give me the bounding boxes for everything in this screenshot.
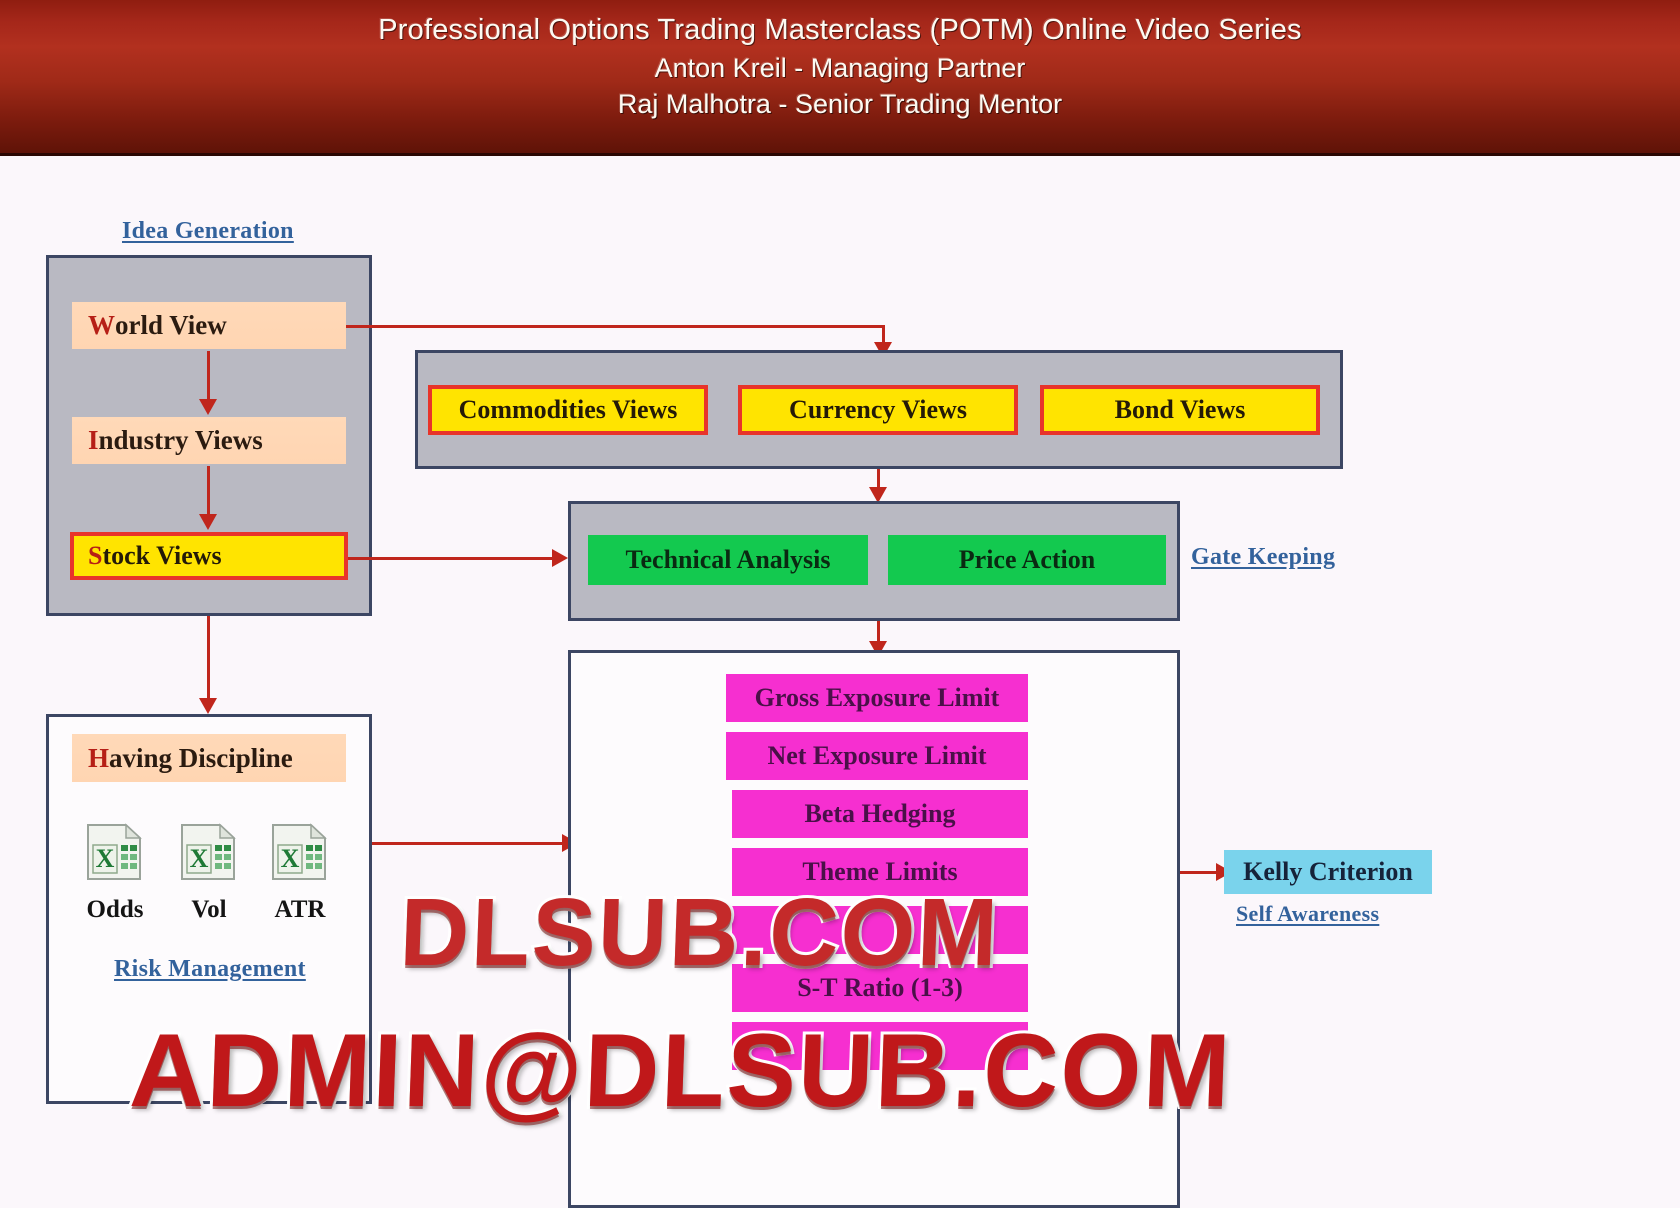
- beta-hedging-box[interactable]: Beta Hedging: [732, 790, 1028, 838]
- kelly-criterion-box[interactable]: Kelly Criterion: [1224, 850, 1432, 894]
- net-exposure-limit-label: Net Exposure Limit: [767, 741, 986, 771]
- connector-risk-to-limits: [372, 842, 562, 845]
- connector-analysis-to-limits: [877, 621, 880, 641]
- stock-views-initial: S: [88, 541, 102, 571]
- currency-views-label: Currency Views: [789, 395, 967, 425]
- bond-views-box[interactable]: Bond Views: [1040, 385, 1320, 435]
- price-action-box[interactable]: Price Action: [888, 535, 1166, 585]
- industry-views-box[interactable]: Industry Views: [72, 417, 346, 464]
- connector-worldview-to-views-v: [882, 325, 885, 342]
- connector-stock-to-analysis: [348, 557, 552, 560]
- label-self-awareness: Self Awareness: [1236, 901, 1379, 927]
- label-gate-keeping: Gate Keeping: [1191, 544, 1335, 571]
- presenter-secondary: Raj Malhotra - Senior Trading Mentor: [0, 86, 1680, 122]
- stock-views-label: tock Views: [102, 541, 221, 571]
- currency-views-box[interactable]: Currency Views: [738, 385, 1018, 435]
- industry-views-initial: I: [88, 425, 99, 456]
- watermark-email: ADMIN@DLSUB.COM: [128, 1012, 1234, 1131]
- label-idea-generation: Idea Generation: [122, 218, 294, 245]
- connector-views-to-analysis: [877, 469, 880, 487]
- connector-worldview-to-views-h: [346, 325, 884, 328]
- stock-views-box[interactable]: Stock Views: [70, 532, 348, 580]
- tool-atr-label: ATR: [263, 896, 337, 924]
- arrowhead-world-to-industry: [199, 399, 217, 415]
- bond-views-label: Bond Views: [1115, 395, 1246, 425]
- course-title: Professional Options Trading Masterclass…: [0, 10, 1680, 50]
- connector-idea-to-risk: [207, 616, 210, 698]
- svg-text:X: X: [96, 844, 115, 873]
- title-block: Professional Options Trading Masterclass…: [0, 10, 1680, 122]
- world-view-box[interactable]: World View: [72, 302, 346, 349]
- commodities-views-box[interactable]: Commodities Views: [428, 385, 708, 435]
- excel-icon: X: [176, 872, 242, 889]
- arrowhead-stock-to-analysis: [552, 549, 568, 567]
- beta-hedging-label: Beta Hedging: [805, 799, 956, 829]
- watermark-site: DLSUB.COM: [398, 878, 1001, 988]
- svg-text:X: X: [281, 844, 300, 873]
- label-risk-management: Risk Management: [114, 956, 306, 983]
- tool-vol[interactable]: X Vol: [172, 821, 246, 924]
- industry-views-label: ndustry Views: [99, 425, 263, 456]
- price-action-label: Price Action: [959, 545, 1095, 575]
- arrowhead-industry-to-stock: [199, 514, 217, 530]
- presenter-primary: Anton Kreil - Managing Partner: [0, 50, 1680, 86]
- tool-odds-label: Odds: [78, 896, 152, 924]
- having-discipline-label: aving Discipline: [109, 743, 293, 774]
- technical-analysis-label: Technical Analysis: [626, 545, 831, 575]
- world-view-label: orld View: [115, 310, 227, 341]
- kelly-criterion-label: Kelly Criterion: [1243, 857, 1413, 887]
- net-exposure-limit-box[interactable]: Net Exposure Limit: [726, 732, 1028, 780]
- commodities-views-label: Commodities Views: [459, 395, 678, 425]
- having-discipline-box[interactable]: Having Discipline: [72, 734, 346, 782]
- tool-atr[interactable]: X ATR: [263, 821, 337, 924]
- having-discipline-initial: H: [88, 743, 109, 774]
- excel-icon: X: [267, 872, 333, 889]
- gross-exposure-limit-box[interactable]: Gross Exposure Limit: [726, 674, 1028, 722]
- connector-world-to-industry: [207, 351, 210, 399]
- tool-odds[interactable]: X Odds: [78, 821, 152, 924]
- connector-industry-to-stock: [207, 466, 210, 514]
- technical-analysis-box[interactable]: Technical Analysis: [588, 535, 868, 585]
- excel-icon: X: [82, 872, 148, 889]
- world-view-initial: W: [88, 310, 115, 341]
- tool-vol-label: Vol: [172, 896, 246, 924]
- svg-text:X: X: [190, 844, 209, 873]
- arrowhead-idea-to-risk: [199, 698, 217, 714]
- gross-exposure-limit-label: Gross Exposure Limit: [755, 683, 1000, 713]
- title-banner: Professional Options Trading Masterclass…: [0, 0, 1680, 156]
